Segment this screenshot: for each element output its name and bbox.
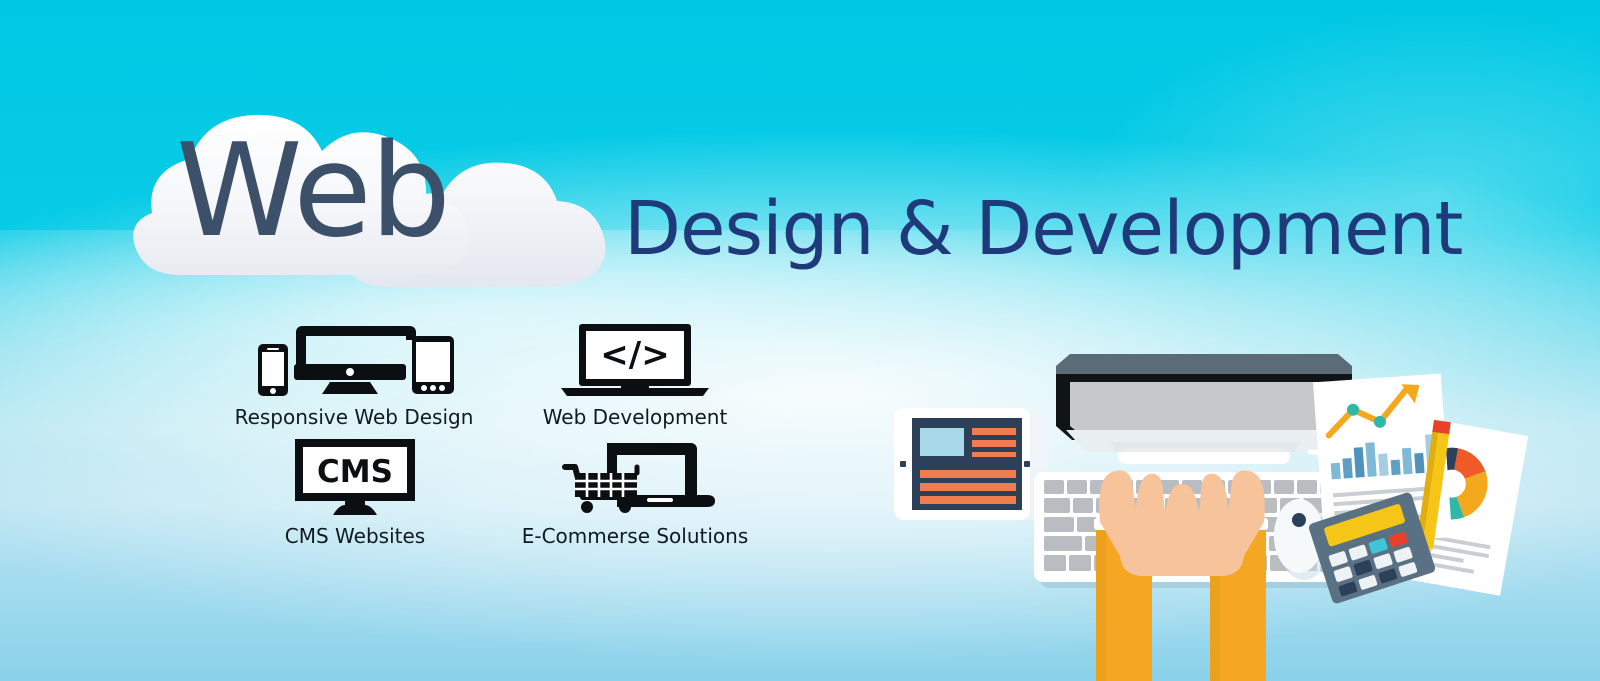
tablet <box>894 408 1048 520</box>
devices-icon <box>228 322 480 403</box>
svg-text:</>: </> <box>600 335 669 375</box>
service-item-web-development[interactable]: </> Web Development <box>524 322 746 429</box>
web-design-banner: Web Design & Development <box>0 0 1600 681</box>
background-highlight-upper <box>900 0 1600 360</box>
service-item-responsive-web-design[interactable]: Responsive Web Design <box>228 322 480 429</box>
laptop-code-icon: </> <box>524 322 746 403</box>
laptop-cart-icon <box>504 437 766 522</box>
service-label: CMS Websites <box>250 524 460 548</box>
service-item-cms-websites[interactable]: CMS CMS Websites <box>250 437 460 548</box>
service-label: Web Development <box>524 405 746 429</box>
monitor <box>1056 354 1352 464</box>
service-item-ecommerce-solutions[interactable]: E-Commerse Solutions <box>504 437 766 548</box>
service-label: E-Commerse Solutions <box>504 524 766 548</box>
desk-illustration <box>880 330 1580 681</box>
svg-text:CMS: CMS <box>317 454 393 490</box>
service-label: Responsive Web Design <box>228 405 480 429</box>
monitor-cms-icon: CMS <box>250 437 460 522</box>
hands-and-arms <box>1094 470 1268 681</box>
services-grid: Responsive Web Design </> Web Developmen… <box>228 322 768 552</box>
logo-word-web: Web <box>176 128 449 256</box>
page-title: Design & Development <box>624 192 1462 266</box>
